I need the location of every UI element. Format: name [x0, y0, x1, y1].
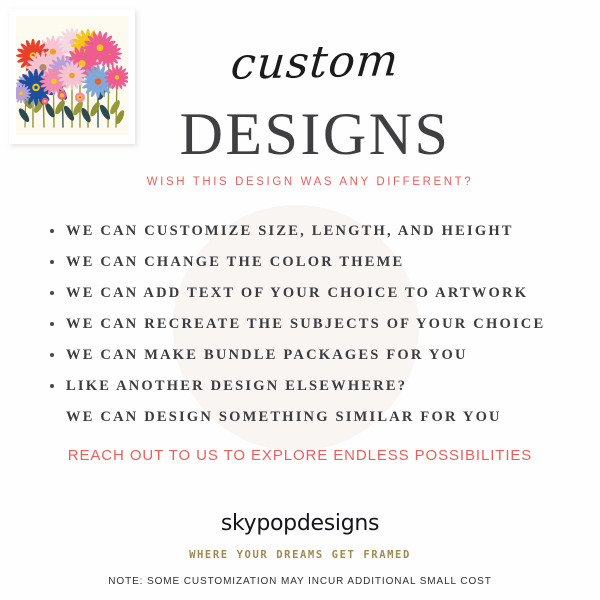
list-item-label: WE CAN CUSTOMIZE SIZE, LENGTH, AND HEIGH… — [66, 223, 514, 239]
bullet-icon — [50, 260, 54, 264]
tagline: WISH THIS DESIGN WAS ANY DIFFERENT? — [60, 176, 560, 188]
list-item: WE CAN CHANGE THE COLOR THEME — [44, 250, 584, 281]
bullet-icon — [50, 322, 54, 326]
list-item: WE CAN ADD TEXT OF YOUR CHOICE TO ARTWOR… — [44, 281, 584, 312]
brand-slogan: WHERE YOUR DREAMS GET FRAMED — [100, 549, 500, 561]
framed-artwork[interactable] — [9, 9, 135, 144]
list-item-label: WE CAN ADD TEXT OF YOUR CHOICE TO ARTWOR… — [66, 285, 528, 301]
list-item-label: WE CAN CHANGE THE COLOR THEME — [66, 254, 404, 270]
bullet-icon — [50, 229, 54, 233]
script-title: custom — [148, 35, 483, 92]
bullet-icon — [50, 384, 54, 388]
list-item: WE CAN RECREATE THE SUBJECTS OF YOUR CHO… — [44, 312, 584, 343]
bullet-icon — [50, 353, 54, 357]
call-to-action-text: REACH OUT TO US TO EXPLORE ENDLESS POSSI… — [20, 447, 580, 464]
floral-artwork-image — [16, 16, 128, 135]
list-item: WE CAN MAKE BUNDLE PACKAGES FOR YOU — [44, 343, 584, 374]
list-item-label: LIKE ANOTHER DESIGN ELSEWHERE? — [66, 378, 407, 394]
poster-canvas: custom DESIGNS WISH THIS DESIGN WAS ANY … — [0, 0, 600, 600]
list-item-label: WE CAN RECREATE THE SUBJECTS OF YOUR CHO… — [66, 316, 545, 332]
bullet-icon — [50, 291, 54, 295]
list-item-label: WE CAN DESIGN SOMETHING SIMILAR FOR YOU — [66, 409, 502, 425]
page-title: DESIGNS — [140, 101, 490, 167]
list-item-continuation: WE CAN DESIGN SOMETHING SIMILAR FOR YOU — [44, 405, 584, 436]
brand-name: skypopdesigns — [100, 511, 500, 536]
feature-list: WE CAN CUSTOMIZE SIZE, LENGTH, AND HEIGH… — [44, 219, 584, 436]
list-item: WE CAN CUSTOMIZE SIZE, LENGTH, AND HEIGH… — [44, 219, 584, 250]
footnote: NOTE: SOME CUSTOMIZATION MAY INCUR ADDIT… — [40, 576, 560, 587]
list-item-label: WE CAN MAKE BUNDLE PACKAGES FOR YOU — [66, 347, 468, 363]
list-item: LIKE ANOTHER DESIGN ELSEWHERE? — [44, 374, 584, 405]
